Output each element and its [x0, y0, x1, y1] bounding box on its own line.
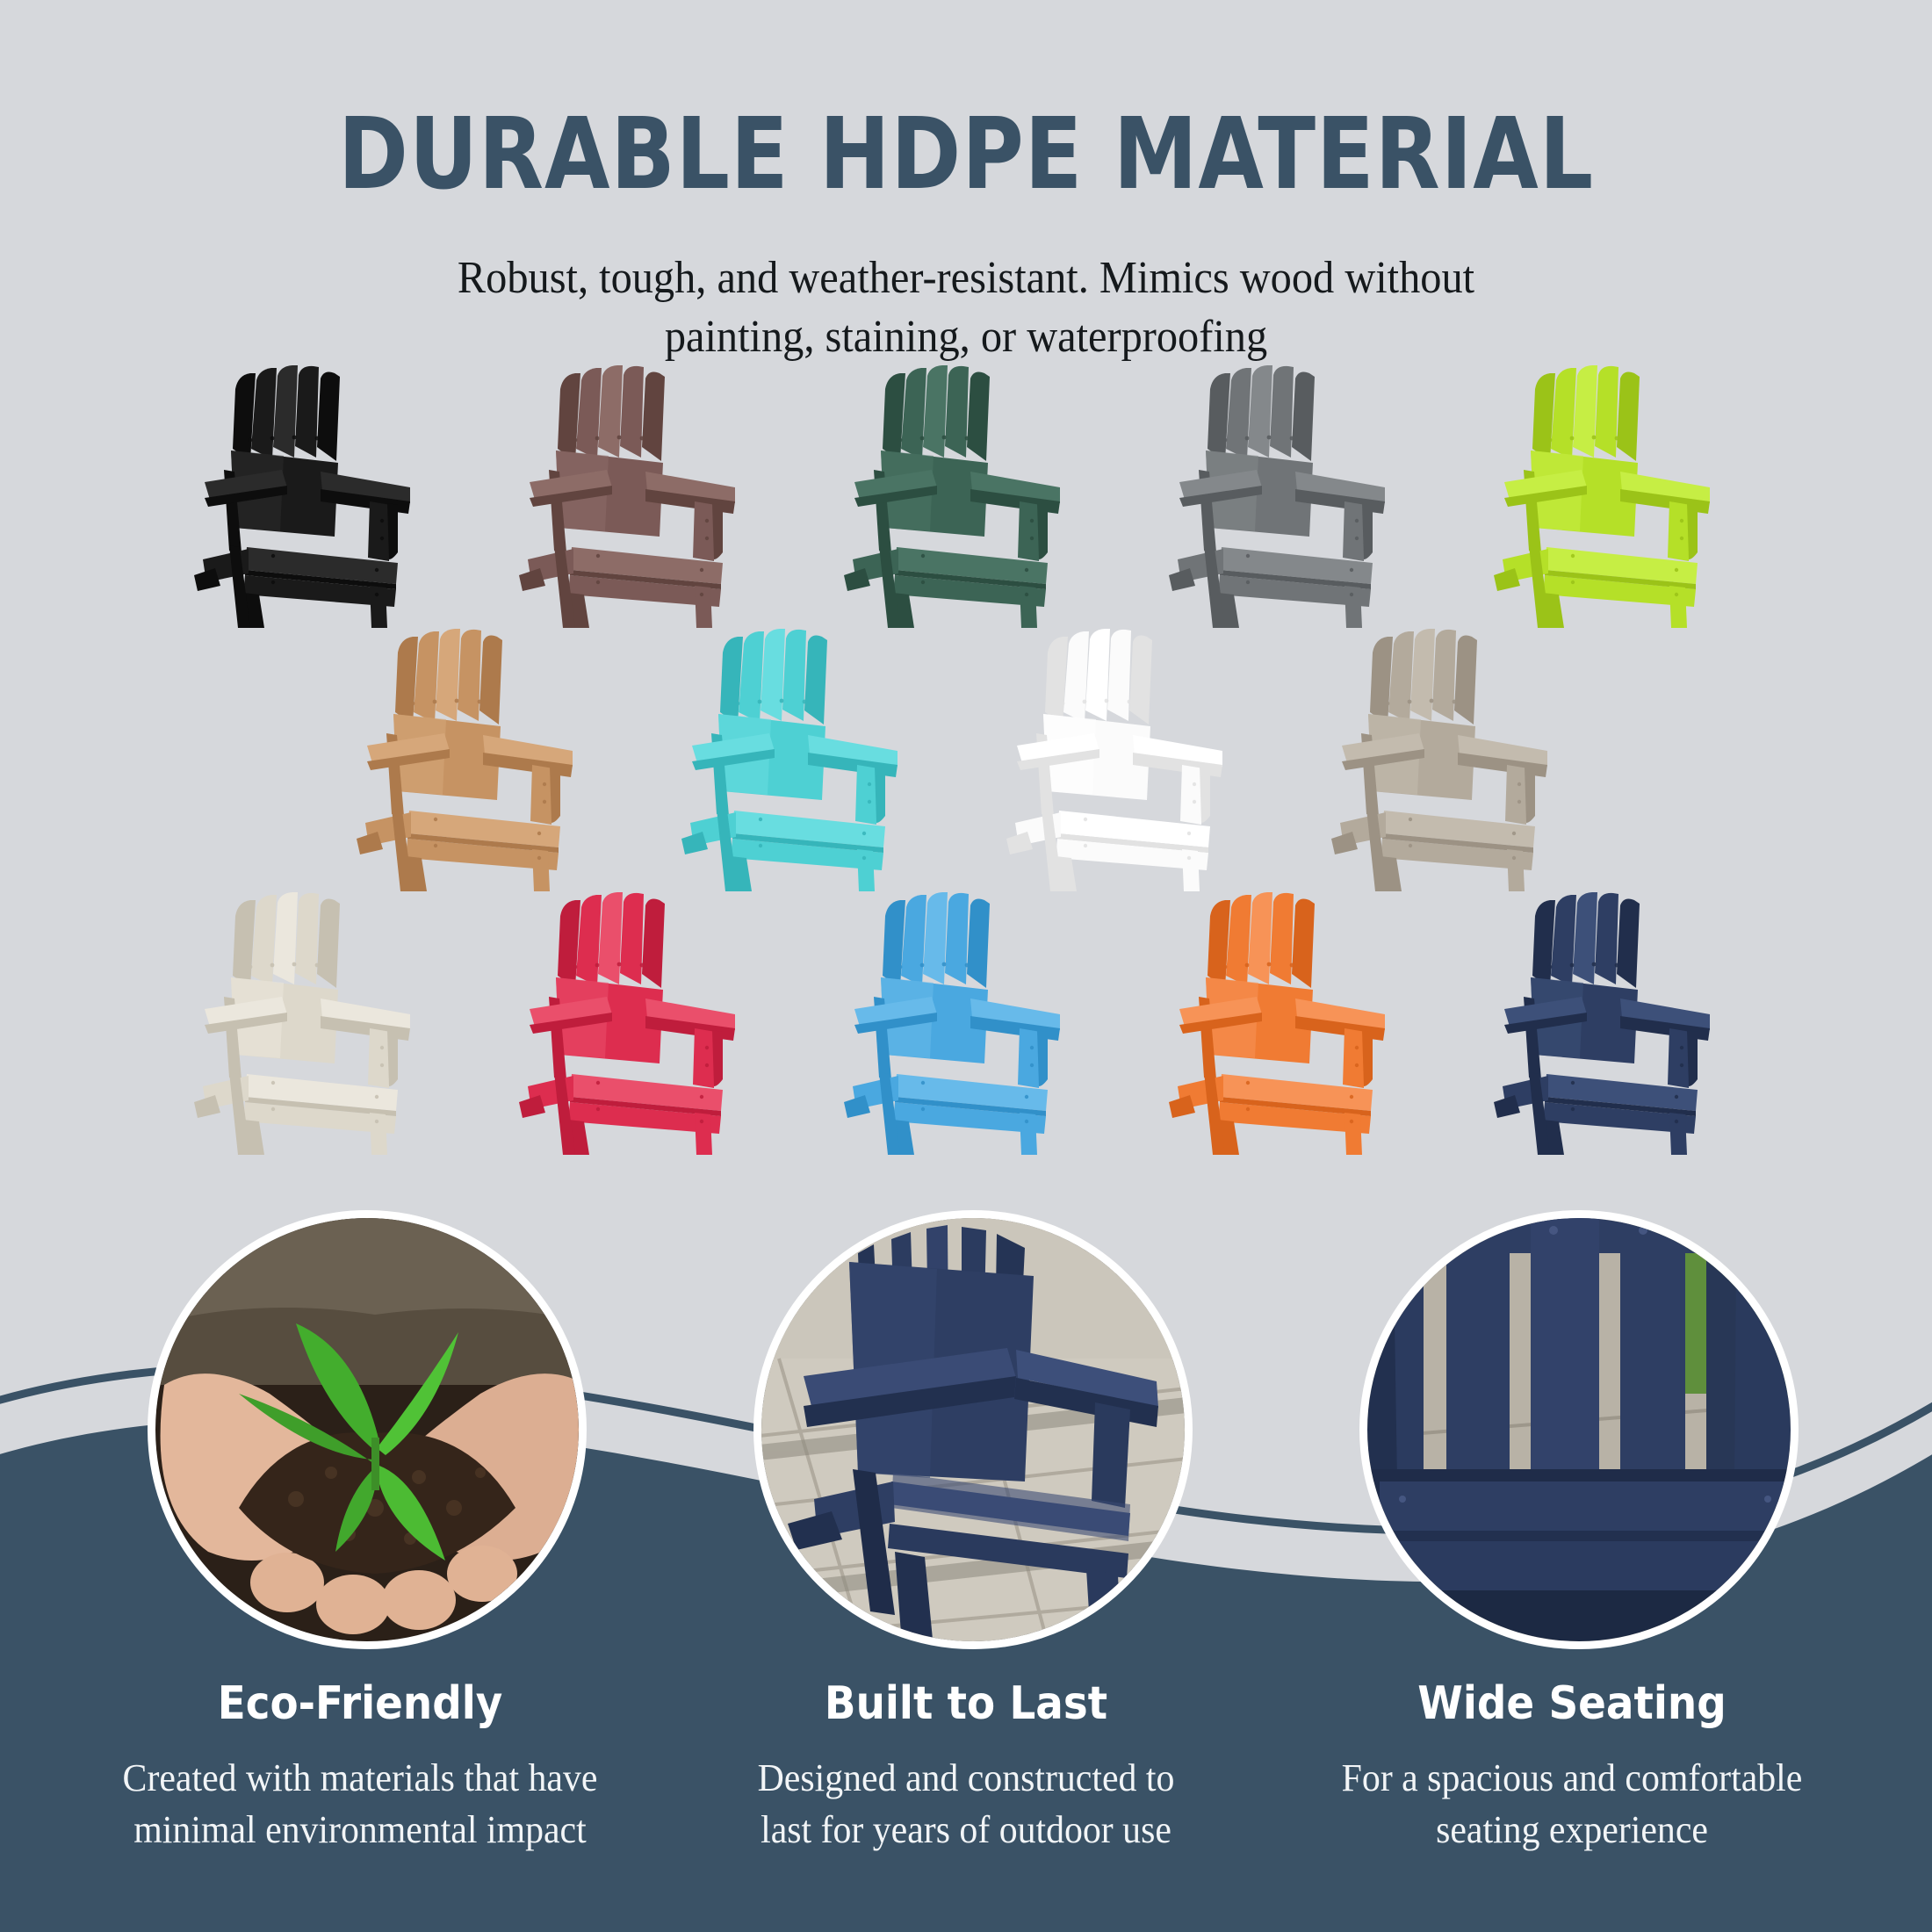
chair-right-arm-post: [1018, 1028, 1041, 1088]
feature-circle-wide-seating[interactable]: [1359, 1210, 1816, 1667]
chair-swatch-navy-blue[interactable]: [1489, 891, 1726, 1155]
chair-swatch-gray[interactable]: [1164, 364, 1401, 628]
feature-desc-wide-seating: For a spacious and comfortable seating e…: [1280, 1753, 1864, 1856]
chair-right-arm-post: [530, 765, 553, 825]
chair-back-slats: [720, 629, 827, 724]
feature-title-built-to-last: Built to Last: [689, 1677, 1243, 1730]
chair-swatch-white[interactable]: [1001, 628, 1238, 891]
chair-swatch-orange[interactable]: [1164, 891, 1401, 1155]
chair-right-arm-post: [1343, 1028, 1366, 1088]
feature-image-built-to-last: [753, 1210, 1193, 1649]
feature-desc-built-to-last: Designed and constructed to last for yea…: [674, 1753, 1258, 1856]
chair-front-right-leg: [1669, 586, 1687, 628]
header: DURABLE HDPE MATERIAL Robust, tough, and…: [0, 0, 1932, 366]
chair-front-right-leg: [1669, 1113, 1687, 1155]
chair-front-right-leg: [695, 586, 712, 628]
chair-swatch-turquoise[interactable]: [676, 628, 913, 891]
chair-back-slats: [1045, 629, 1152, 724]
chair-front-right-leg: [695, 1113, 712, 1155]
chair-right-arm-post: [368, 1028, 391, 1088]
chair-front-right-leg: [1344, 1113, 1362, 1155]
chair-swatch-sky-blue[interactable]: [839, 891, 1076, 1155]
feature-image-inner: [761, 1218, 1185, 1641]
chair-front-right-leg: [1020, 586, 1037, 628]
feature-image-inner: [155, 1218, 579, 1641]
chair-front-right-leg: [1507, 849, 1525, 891]
feature-desc-line-1: For a spacious and comfortable: [1280, 1753, 1864, 1805]
chair-right-arm-post: [1668, 1028, 1690, 1088]
feature-desc-line-2: minimal environmental impact: [68, 1805, 652, 1856]
chair-back-slats: [1370, 629, 1477, 724]
adirondack-chair-illustration: [1489, 364, 1726, 628]
feature-title-eco-friendly: Eco-Friendly: [83, 1677, 637, 1730]
feature-desc-line-1: Created with materials that have: [68, 1753, 652, 1805]
chair-swatch-teak-brown[interactable]: [351, 628, 588, 891]
chair-front-right-leg: [1182, 849, 1200, 891]
feature-circle-built-to-last[interactable]: [753, 1210, 1210, 1667]
chair-back-slats: [558, 365, 665, 461]
chair-swatch-crimson-red[interactable]: [514, 891, 751, 1155]
adirondack-chair-illustration: [839, 364, 1076, 628]
chair-back-slats: [883, 365, 990, 461]
adirondack-chair-illustration: [1001, 628, 1238, 891]
feature-image-eco-friendly: [148, 1210, 587, 1649]
chair-front-right-leg: [532, 849, 550, 891]
adirondack-chair-illustration: [1489, 891, 1726, 1155]
feature-text-built-to-last: Built to Last Designed and constructed t…: [659, 1677, 1273, 1856]
feature-desc-line-2: last for years of outdoor use: [674, 1805, 1258, 1856]
chair-swatch-lime-green[interactable]: [1489, 364, 1726, 628]
wide-seat-photo-art: [1367, 1218, 1791, 1641]
feature-desc-line-2: seating experience: [1280, 1805, 1864, 1856]
chair-right-arm-post: [855, 765, 878, 825]
adirondack-chair-illustration: [514, 891, 751, 1155]
infographic-stage: DURABLE HDPE MATERIAL Robust, tough, and…: [0, 0, 1932, 1932]
chair-back-slats: [883, 892, 990, 988]
feature-text-eco-friendly: Eco-Friendly Created with materials that…: [53, 1677, 667, 1856]
patio-chair-photo-art: [761, 1218, 1185, 1641]
adirondack-chair-illustration: [189, 891, 426, 1155]
feature-title-wide-seating: Wide Seating: [1295, 1677, 1849, 1730]
chair-front-right-leg: [370, 1113, 387, 1155]
feature-desc-line-1: Designed and constructed to: [674, 1753, 1258, 1805]
chair-back-slats: [395, 629, 502, 724]
chair-right-arm-post: [1180, 765, 1203, 825]
adirondack-chair-illustration: [1164, 891, 1401, 1155]
adirondack-chair-illustration: [839, 891, 1076, 1155]
chair-back-slats: [233, 365, 340, 461]
subtitle-line-1: Robust, tough, and weather-resistant. Mi…: [68, 249, 1864, 308]
adirondack-chair-illustration: [351, 628, 588, 891]
chair-swatch-forest-green[interactable]: [839, 364, 1076, 628]
chair-right-arm-post: [368, 501, 391, 561]
adirondack-chair-illustration: [1164, 364, 1401, 628]
chair-front-right-leg: [370, 586, 387, 628]
feature-image-inner: [1367, 1218, 1791, 1641]
chair-swatch-black[interactable]: [189, 364, 426, 628]
seedling-photo-art: [155, 1218, 579, 1641]
adirondack-chair-illustration: [1326, 628, 1563, 891]
chair-right-arm-post: [693, 501, 716, 561]
chair-front-right-leg: [857, 849, 875, 891]
chair-front-right-leg: [1020, 1113, 1037, 1155]
chair-back-slats: [233, 892, 340, 988]
chair-swatch-ivory-beige[interactable]: [189, 891, 426, 1155]
feature-image-wide-seating: [1359, 1210, 1799, 1649]
feature-circles: [0, 1210, 1932, 1702]
feature-circle-eco-friendly[interactable]: [148, 1210, 604, 1667]
chair-back-slats: [1207, 365, 1315, 461]
subtitle-line-2: painting, staining, or waterproofing: [68, 308, 1864, 367]
adirondack-chair-illustration: [189, 364, 426, 628]
chair-front-right-leg: [1344, 586, 1362, 628]
chair-right-arm-post: [1505, 765, 1528, 825]
chair-back-slats: [558, 892, 665, 988]
chair-right-arm-post: [1018, 501, 1041, 561]
page-subtitle: Robust, tough, and weather-resistant. Mi…: [68, 249, 1864, 366]
adirondack-chair-illustration: [676, 628, 913, 891]
chair-back-slats: [1207, 892, 1315, 988]
chair-right-arm-post: [1343, 501, 1366, 561]
chair-right-arm-post: [693, 1028, 716, 1088]
chair-swatch-dark-brown[interactable]: [514, 364, 751, 628]
adirondack-chair-illustration: [514, 364, 751, 628]
feature-desc-eco-friendly: Created with materials that have minimal…: [68, 1753, 652, 1856]
feature-text-wide-seating: Wide Seating For a spacious and comforta…: [1265, 1677, 1879, 1856]
chair-swatch-light-gray-beige[interactable]: [1326, 628, 1563, 891]
chair-back-slats: [1532, 365, 1640, 461]
page-title: DURABLE HDPE MATERIAL: [135, 105, 1797, 204]
chair-back-slats: [1532, 892, 1640, 988]
chair-right-arm-post: [1668, 501, 1690, 561]
